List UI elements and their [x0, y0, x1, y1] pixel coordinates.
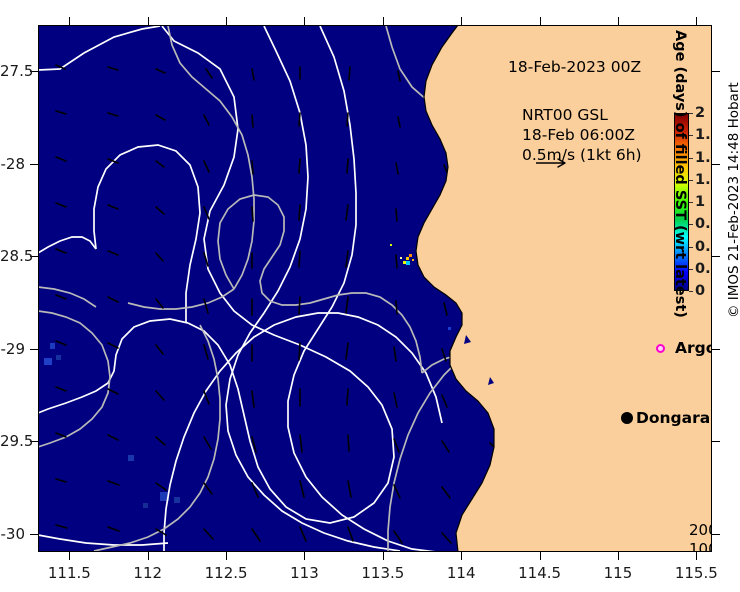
colorbar-title: Age (days) of filled SST (wrt latest)	[672, 30, 688, 318]
model-name: NRT00 GSL	[522, 105, 642, 125]
x-axis-tick-label: 114.5	[518, 564, 561, 582]
x-axis-tick-top	[148, 17, 149, 25]
colorbar-tick	[689, 180, 693, 181]
x-axis-tick-top	[461, 17, 462, 25]
y-axis-tick-right	[712, 164, 720, 165]
dongara-town-marker[interactable]	[621, 412, 633, 424]
y-axis-tick-left	[30, 534, 38, 535]
x-axis-tick-top	[69, 17, 70, 25]
argo-label: Argo	[675, 339, 712, 357]
colorbar-tick-label: 0	[695, 283, 705, 299]
colorbar-tick-label: 0.75	[695, 216, 712, 232]
y-axis-tick-label: 28.5	[0, 247, 25, 265]
x-axis-tick-label: 111.5	[48, 564, 91, 582]
x-axis-tick-bottom	[226, 552, 227, 560]
colorbar-tick	[689, 224, 693, 225]
y-axis-tick-right	[712, 534, 720, 535]
colorbar-tick-label: 0.5	[695, 239, 712, 255]
y-axis-tick-label: 29.5	[0, 432, 25, 450]
y-axis-tick-label: -29	[0, 340, 25, 358]
x-axis-tick-top	[304, 17, 305, 25]
y-axis-tick-label: 27.5	[0, 62, 25, 80]
colorbar-tick	[689, 135, 693, 136]
colorbar-tick	[689, 202, 693, 203]
colorbar-tick-label: 1.5	[695, 150, 712, 166]
colorbar-tick-label: 2	[695, 105, 705, 121]
forecast-date-stamp: 18-Feb-2023 00Z	[508, 58, 641, 76]
colorbar-tick	[689, 269, 693, 270]
x-axis-tick-bottom	[304, 552, 305, 560]
y-axis-tick-right	[712, 71, 720, 72]
x-axis-tick-top	[696, 17, 697, 25]
dongara-label: Dongara	[636, 409, 710, 427]
x-axis-tick-top	[540, 17, 541, 25]
x-axis-tick-label: 113	[290, 564, 319, 582]
colorbar-tick	[689, 158, 693, 159]
colorbar-tick	[689, 247, 693, 248]
y-axis-tick-left	[30, 164, 38, 165]
colorbar-tick-label: 0.25	[695, 261, 712, 277]
y-axis-tick-right	[712, 256, 720, 257]
map-plot-area[interactable]: 18-Feb-2023 00Z NRT00 GSL 18-Feb 06:00Z …	[38, 25, 712, 552]
depth-contour-legend: 200m 1000m	[689, 521, 712, 552]
x-axis-tick-label: 112	[133, 564, 162, 582]
y-axis-tick-right	[712, 441, 720, 442]
x-axis-tick-bottom	[383, 552, 384, 560]
x-axis-tick-label: 115.5	[675, 564, 718, 582]
model-info-block: NRT00 GSL 18-Feb 06:00Z 0.5m/s (1kt 6h)	[522, 105, 642, 165]
colorbar-tick	[689, 291, 693, 292]
vector-scale-arrow-icon	[536, 158, 570, 168]
x-axis-tick-top	[618, 17, 619, 25]
colorbar-tick-label: 1.75	[695, 127, 712, 143]
depth-legend-200m: 200m	[689, 521, 712, 540]
y-axis-tick-right	[712, 349, 720, 350]
x-axis-tick-top	[383, 17, 384, 25]
colorbar-tick-label: 1.25	[695, 172, 712, 188]
x-axis-tick-label: 112.5	[205, 564, 248, 582]
x-axis-tick-bottom	[69, 552, 70, 560]
colorbar-tick	[689, 113, 693, 114]
x-axis-tick-top	[226, 17, 227, 25]
x-axis-tick-bottom	[148, 552, 149, 560]
colorbar-tick-label: 1	[695, 194, 705, 210]
model-valid-time: 18-Feb 06:00Z	[522, 125, 642, 145]
depth-legend-1000m: 1000m	[689, 540, 712, 552]
argo-float-marker[interactable]	[656, 344, 665, 353]
x-axis-tick-bottom	[540, 552, 541, 560]
credit-text: © IMOS 21-Feb-2023 14:48 Hobart	[726, 82, 740, 318]
y-axis-tick-label: -28	[0, 155, 25, 173]
x-axis-tick-bottom	[696, 552, 697, 560]
map-figure: 18-Feb-2023 00Z NRT00 GSL 18-Feb 06:00Z …	[0, 0, 740, 592]
x-axis-tick-bottom	[461, 552, 462, 560]
x-axis-tick-label: 113.5	[361, 564, 404, 582]
x-axis-tick-label: 114	[447, 564, 476, 582]
y-axis-tick-left	[30, 349, 38, 350]
y-axis-tick-label: -30	[0, 525, 25, 543]
x-axis-tick-bottom	[618, 552, 619, 560]
x-axis-tick-label: 115	[604, 564, 633, 582]
